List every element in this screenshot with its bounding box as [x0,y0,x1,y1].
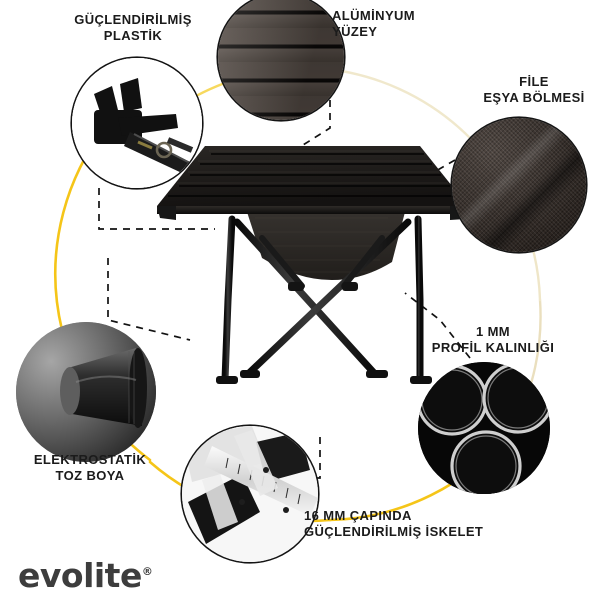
callout-circle-aluminyum-yuzey [218,0,344,120]
label-aluminyum-yuzey: ALÜMİNYUM YÜZEY [332,8,492,40]
leg-right-rear [418,219,420,380]
callout-circle-guclendirilmis-plastik [72,58,202,188]
product-infographic: GÜÇLENDİRİLMİŞ PLASTİK ALÜMİNYUM YÜZEY F… [0,0,600,600]
brand-logo-text: evolite [18,556,142,595]
reinforced-plastic-bracket-photo [72,58,202,188]
callout-circle-guclendirilmis-iskelet [182,426,318,562]
label-elektrostatik-toz-boya: ELEKTROSTATİK TOZ BOYA [10,452,170,484]
label-guclendirilmis-plastik: GÜÇLENDİRİLMİŞ PLASTİK [48,12,218,44]
label-guclendirilmis-iskelet: 16 MM ÇAPINDA GÜÇLENDİRİLMİŞ İSKELET [304,508,554,540]
brand-logo: evolite® [18,556,152,595]
table-top [157,146,468,220]
callout-circle-elektrostatik-toz-boya [16,322,156,462]
tube-profile-cross-section-photo [418,362,550,494]
leg-left-rear [225,219,232,380]
label-profil-kalinligi: 1 MM PROFİL KALINLIĞI [398,324,588,356]
callout-circle-profil-kalinligi [418,362,550,494]
caliper-measuring-tube-photo [182,426,318,562]
powder-coated-tube-end-photo [16,322,156,462]
callout-circle-file-esya-bolmesi [452,118,586,252]
registered-trademark-icon: ® [142,565,153,578]
aluminium-slat-surface-photo [218,0,344,120]
table-feet [216,370,432,384]
label-file-esya-bolmesi: FİLE EŞYA BÖLMESİ [468,74,600,106]
mesh-storage-fabric-photo [452,118,586,252]
